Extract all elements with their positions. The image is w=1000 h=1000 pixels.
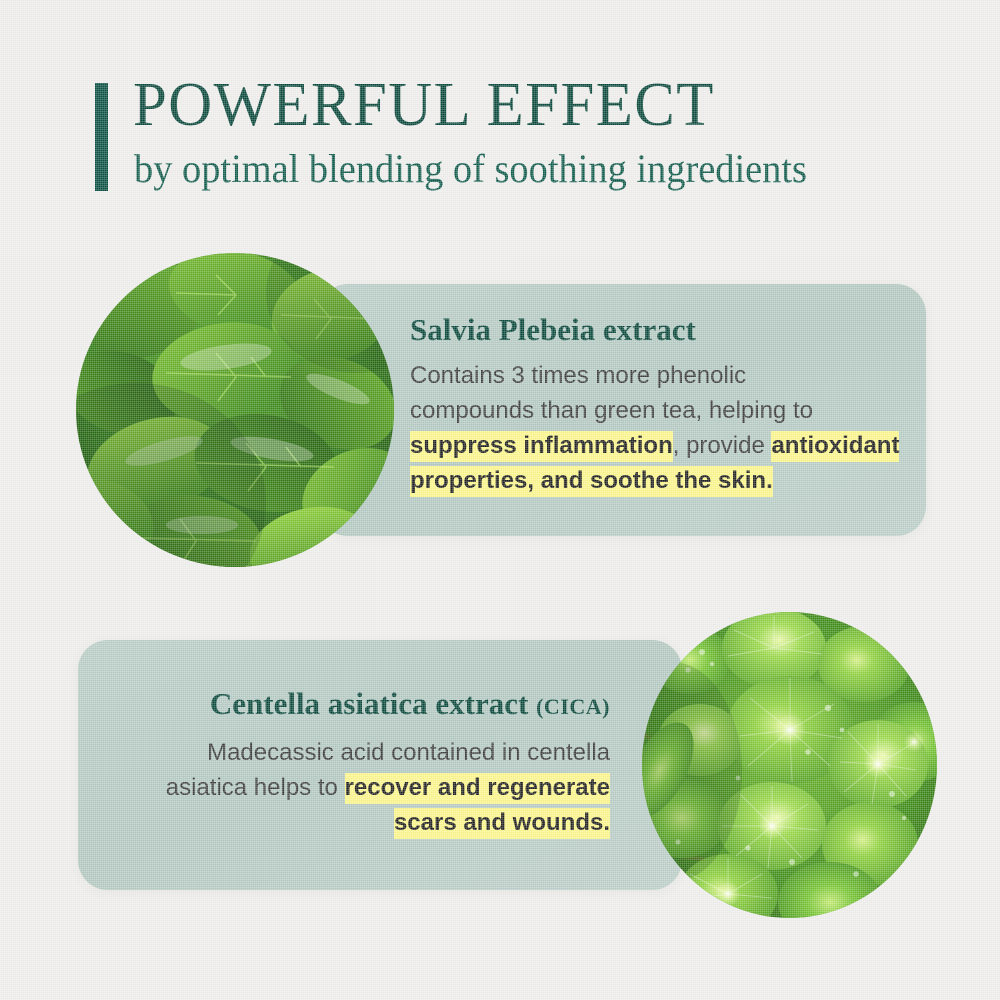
salvia-highlight-3: properties, and soothe the skin. — [410, 466, 773, 497]
centella-asiatica-image — [642, 612, 937, 918]
centella-description: Madecassic acid contained in centella as… — [110, 735, 610, 840]
salvia-highlight-1: suppress inflammation — [410, 431, 673, 462]
centella-line-2: asiatica helps to recover and regenerate — [110, 770, 610, 805]
centella-title-suffix: (CICA) — [536, 694, 610, 719]
salvia-title: Salvia Plebeia extract — [410, 310, 910, 350]
centella-line-1-text: Madecassic acid contained in centella — [207, 739, 610, 766]
salvia-line-1: Contains 3 times more phenolic — [410, 358, 910, 393]
centella-line-1: Madecassic acid contained in centella — [110, 735, 610, 770]
centella-line-2-plain: asiatica helps to — [166, 774, 345, 801]
salvia-line-3-plain: , provide — [673, 432, 772, 459]
salvia-description: Contains 3 times more phenolic compounds… — [410, 358, 910, 498]
page-header: POWERFUL EFFECT by optimal blending of s… — [0, 0, 1000, 230]
salvia-line-2-text: compounds than green tea, helping to — [410, 397, 813, 424]
centella-line-3: scars and wounds. — [110, 805, 610, 840]
centella-highlight-2: scars and wounds. — [394, 808, 610, 839]
salvia-text-block: Salvia Plebeia extract Contains 3 times … — [410, 310, 910, 498]
centella-highlight-1: recover and regenerate — [345, 773, 610, 804]
centella-text-block: Centella asiatica extract (CICA) Madecas… — [110, 684, 610, 840]
centella-title-text: Centella asiatica extract — [210, 686, 529, 721]
salvia-title-text: Salvia Plebeia extract — [410, 312, 696, 347]
salvia-plebeia-image — [76, 253, 394, 567]
title-accent-bar — [95, 83, 108, 191]
page-title: POWERFUL EFFECT — [133, 74, 715, 136]
centella-title: Centella asiatica extract (CICA) — [110, 684, 610, 727]
salvia-line-4: properties, and soothe the skin. — [410, 463, 910, 498]
salvia-line-2: compounds than green tea, helping to — [410, 393, 910, 428]
salvia-highlight-2: antioxidant — [771, 431, 899, 462]
salvia-line-3: suppress inflammation, provide antioxida… — [410, 428, 910, 463]
salvia-line-1-text: Contains 3 times more phenolic — [410, 362, 746, 389]
page-subtitle: by optimal blending of soothing ingredie… — [134, 146, 807, 192]
